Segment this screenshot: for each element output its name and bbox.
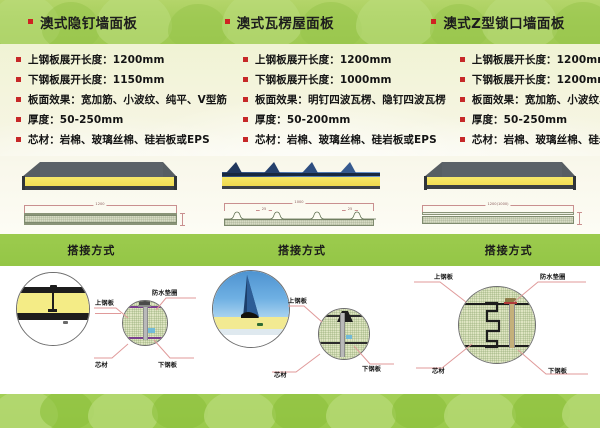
spec-text: 芯材：岩棉、玻璃丝棉、硅岩板或EPS [255, 130, 437, 150]
spec-text: 厚度：50-200mm [255, 110, 350, 130]
detail-section: 上钢板 防水垫圈 芯材 下钢板 [0, 266, 600, 394]
square-bullet-icon [243, 137, 248, 142]
section-upper-skin [422, 212, 574, 215]
square-bullet-icon [243, 97, 248, 102]
square-bullet-icon [28, 19, 33, 24]
subheader-title: 搭接方式 [67, 242, 115, 258]
panel-bottom-plate [424, 185, 576, 189]
layer-background [17, 320, 89, 345]
panel-core-edge [424, 177, 576, 185]
sealant-mark [346, 335, 352, 339]
thickness-dim-line [182, 213, 183, 225]
lower-steel-plate-layer [17, 313, 89, 320]
rib-cap-shape [333, 309, 357, 323]
spec-column-1: 上钢板展开长度：1200mm 下钢板展开长度：1150mm 板面效果：宽加筋、小… [0, 50, 227, 156]
label-washer: 防水垫圈 [152, 288, 178, 297]
product-image-1: 1200 [0, 156, 200, 234]
sealant-mark [148, 328, 155, 333]
leader-line-core [416, 342, 476, 370]
product-title-3: 澳式Z型锁口墙面板 [443, 12, 564, 32]
spec-text: 上钢板展开长度：1200mm [28, 50, 165, 70]
label-upper-plate: 上钢板 [288, 296, 307, 305]
detail-column-2: 上钢板 芯材 下钢板 [200, 266, 400, 394]
hidden-nail-shank [52, 289, 54, 311]
panel-end-left [22, 176, 25, 190]
layer-background [213, 335, 289, 347]
subheader-2: 搭接方式 [211, 234, 394, 266]
spec-row: 板面效果：宽加筋、小波纹、纯平、V型筋 [16, 90, 227, 110]
dimension-tick [224, 203, 225, 211]
leaf-shape [40, 394, 94, 428]
square-bullet-icon [16, 137, 21, 142]
square-bullet-icon [460, 57, 465, 62]
spec-text: 厚度：50-250mm [472, 110, 567, 130]
square-bullet-icon [16, 57, 21, 62]
product-image-section: 1200 [0, 156, 600, 234]
square-bullet-icon [460, 77, 465, 82]
panel-top-bevel-right [562, 162, 576, 177]
product-image-2: 1000 25 25 [200, 156, 400, 234]
leader-line-lower-plate [352, 344, 396, 366]
leader-line-washer [508, 280, 588, 304]
corrugation-profile-line [222, 211, 378, 220]
spec-text: 上钢板展开长度：1200mm(1000mm) [472, 50, 600, 70]
dimension-label: 1000 [292, 200, 305, 204]
panel-end-right [573, 176, 576, 190]
spec-text: 下钢板展开长度：1200mm(1000mm) [472, 70, 600, 90]
leaf-shape [444, 394, 516, 428]
panel-top-face [40, 162, 163, 177]
spec-text: 厚度：50-250mm [28, 110, 123, 130]
square-bullet-icon [431, 19, 436, 24]
panel-upper-plate-edge [222, 173, 380, 176]
product-image-3: 1200(1000) [400, 156, 600, 234]
spec-row: 芯材：岩棉、玻璃丝棉、硅岩板或EPS [243, 130, 446, 150]
spec-column-3: 上钢板展开长度：1200mm(1000mm) 下钢板展开长度：1200mm(10… [446, 50, 600, 156]
section-lower-skin [24, 223, 177, 225]
spec-text: 芯材：岩棉、玻璃丝棉、硅岩板或EPS [28, 130, 210, 150]
product-header-2: 澳式瓦楞屋面板 [197, 0, 394, 44]
square-bullet-icon [16, 117, 21, 122]
footer-band [0, 394, 600, 428]
leaf-shape [152, 394, 208, 428]
product-title-2: 澳式瓦楞屋面板 [237, 12, 334, 32]
leader-line-washer [148, 296, 198, 314]
product-spec-sheet: 澳式隐钉墙面板 澳式瓦楞屋面板 澳式Z型锁口墙面板 上钢板展开长度：1200mm… [0, 0, 600, 428]
spec-row: 下钢板展开长度：1150mm [16, 70, 227, 90]
fastener-mark [63, 321, 68, 324]
spec-row: 上钢板展开长度：1200mm [243, 50, 446, 70]
header-title-row: 澳式隐钉墙面板 澳式瓦楞屋面板 澳式Z型锁口墙面板 [0, 0, 600, 44]
square-bullet-icon [225, 19, 230, 24]
leader-line-upper-plate [414, 280, 470, 304]
label-lower-plate: 下钢板 [158, 360, 177, 369]
flat-sandwich-panel-3d [22, 162, 177, 192]
label-lower-plate: 下钢板 [362, 364, 381, 373]
spec-row: 板面效果：明钉四波瓦楞、隐钉四波瓦楞 [243, 90, 446, 110]
spec-row: 厚度：50-200mm [243, 110, 446, 130]
screw-shank [340, 313, 345, 357]
leader-line-core [94, 342, 134, 360]
spec-text: 下钢板展开长度：1150mm [28, 70, 165, 90]
spec-text: 下钢板展开长度：1000mm [255, 70, 392, 90]
square-bullet-icon [16, 97, 21, 102]
label-core: 芯材 [432, 366, 445, 375]
label-upper-plate: 上钢板 [434, 272, 453, 281]
spec-row: 上钢板展开长度：1200mm [16, 50, 227, 70]
z-lock-section-drawing: 1200(1000) [414, 201, 586, 227]
spec-row: 芯材：岩棉、玻璃丝棉、硅岩板或EPS [460, 130, 600, 150]
spec-text: 上钢板展开长度：1200mm [255, 50, 392, 70]
panel-end-right [174, 176, 177, 190]
leaf-shape [272, 394, 330, 428]
panel-core-edge [22, 177, 177, 186]
spec-column-2: 上钢板展开长度：1200mm 下钢板展开长度：1000mm 板面效果：明钉四波瓦… [227, 50, 446, 156]
panel-bottom-plate [22, 186, 177, 190]
label-core: 芯材 [274, 370, 287, 379]
corrugation-rib [340, 162, 356, 173]
spec-row: 芯材：岩棉、玻璃丝棉、硅岩板或EPS [16, 130, 227, 150]
label-core: 芯材 [95, 360, 108, 369]
square-bullet-icon [16, 77, 21, 82]
panel-end-left [424, 176, 427, 190]
dimension-label: 1200 [93, 202, 106, 206]
leaf-shape [326, 394, 396, 428]
lap-joint-closeup-circle [16, 272, 90, 346]
leader-line-lower-plate [150, 338, 196, 360]
label-washer: 防水垫圈 [540, 272, 566, 281]
thickness-tick [577, 224, 582, 225]
spec-row: 下钢板展开长度：1200mm(1000mm) [460, 70, 600, 90]
spec-row: 厚度：50-250mm [16, 110, 227, 130]
corrugated-roof-panel-3d [218, 160, 383, 192]
hidden-nail-foot [48, 309, 57, 312]
label-lower-plate: 下钢板 [548, 366, 567, 375]
spec-row: 厚度：50-250mm [460, 110, 600, 130]
spec-row: 上钢板展开长度：1200mm(1000mm) [460, 50, 600, 70]
rib-seam-shape [213, 271, 289, 331]
corrugated-rib-closeup-circle [212, 270, 290, 348]
subheader-title: 搭接方式 [485, 242, 533, 258]
leaf-shape [88, 394, 158, 428]
product-header-3: 澳式Z型锁口墙面板 [393, 0, 600, 44]
leaf-shape [204, 394, 276, 428]
corrugation-rib [302, 162, 318, 173]
product-header-1: 澳式隐钉墙面板 [0, 0, 197, 44]
square-bullet-icon [460, 97, 465, 102]
corrugated-panel-section-drawing: 1000 25 25 [214, 200, 386, 228]
square-bullet-icon [460, 137, 465, 142]
corrugation-rib [264, 162, 280, 173]
spec-row: 下钢板展开长度：1000mm [243, 70, 446, 90]
section-core [422, 216, 574, 224]
square-bullet-icon [243, 57, 248, 62]
subheader-1: 搭接方式 [0, 234, 211, 266]
panel-core-edge [222, 176, 380, 186]
thickness-tick [180, 225, 185, 226]
detail-column-1: 上钢板 防水垫圈 芯材 下钢板 [0, 266, 200, 394]
subheader-band: 搭接方式 搭接方式 搭接方式 [0, 234, 600, 266]
corrugation-rib [226, 162, 242, 173]
section-core [24, 215, 177, 223]
leader-line-upper-plate [288, 304, 326, 324]
dimension-label: 1200(1000) [485, 202, 510, 206]
spec-text: 芯材：岩棉、玻璃丝棉、硅岩板或EPS [472, 130, 600, 150]
dimension-tick [373, 203, 374, 211]
panel-top-bevel-right [163, 162, 177, 177]
square-bullet-icon [460, 117, 465, 122]
spec-row: 板面效果：宽加筋、小波纹、纯平、V型筋 [460, 90, 600, 110]
spec-text: 板面效果：宽加筋、小波纹、纯平、V型筋 [28, 90, 227, 110]
leaf-shape [392, 394, 448, 428]
z-lock-panel-3d [424, 162, 576, 192]
section-core [224, 219, 374, 226]
detail-column-3: 上钢板 防水垫圈 芯材 下钢板 [400, 266, 600, 394]
fastener-mark [257, 323, 263, 326]
spec-text: 板面效果：明钉四波瓦楞、隐钉四波瓦楞 [255, 90, 446, 110]
spec-section: 上钢板展开长度：1200mm 下钢板展开长度：1150mm 板面效果：宽加筋、小… [0, 44, 600, 156]
panel-top-face [442, 162, 562, 177]
square-bullet-icon [243, 77, 248, 82]
z-lock-profile [481, 301, 507, 349]
spec-text: 板面效果：宽加筋、小波纹、纯平、V型筋 [472, 90, 600, 110]
flat-panel-section-drawing: 1200 [18, 201, 183, 227]
subheader-3: 搭接方式 [393, 234, 600, 266]
square-bullet-icon [243, 117, 248, 122]
panel-bottom-plate [222, 186, 380, 189]
thickness-dim-line [579, 212, 580, 224]
leaf-shape [562, 394, 600, 428]
leader-line-upper-plate [94, 306, 130, 320]
label-upper-plate: 上钢板 [95, 298, 114, 307]
product-title-1: 澳式隐钉墙面板 [40, 12, 137, 32]
subheader-title: 搭接方式 [278, 242, 326, 258]
header-band: 澳式隐钉墙面板 澳式瓦楞屋面板 澳式Z型锁口墙面板 [0, 0, 600, 44]
screw-shank [509, 300, 515, 348]
